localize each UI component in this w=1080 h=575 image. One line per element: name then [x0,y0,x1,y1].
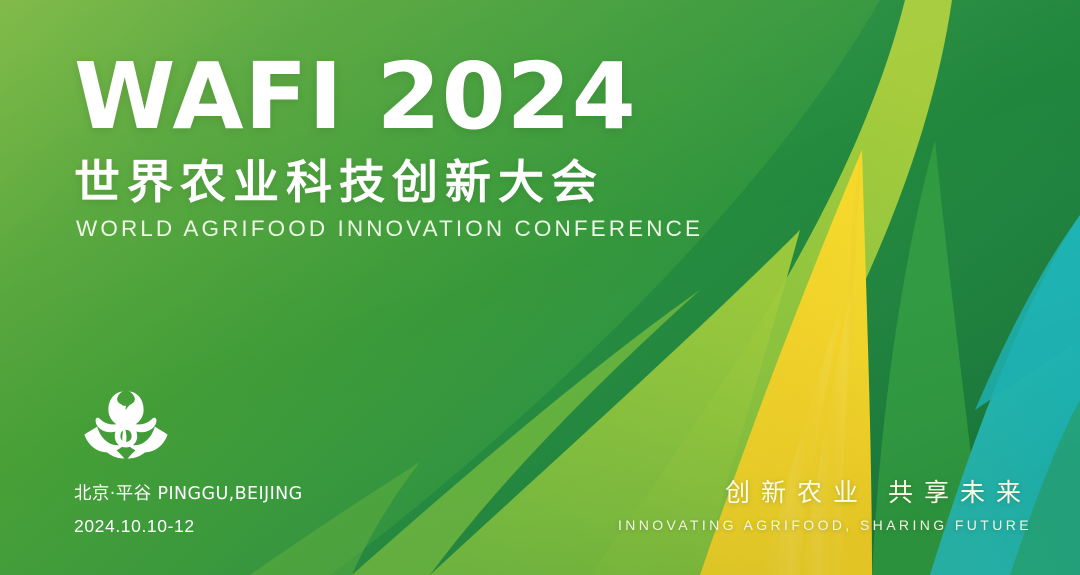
page-title: WAFI 2024 [74,52,734,142]
venue-block: 北京·平谷 PINGGU,BEIJING 2024.10.10-12 [74,388,303,537]
event-dates: 2024.10.10-12 [74,516,303,537]
venue-location: 北京·平谷 PINGGU,BEIJING [74,480,303,505]
wafi-emblem-icon [78,388,174,462]
conference-key-visual-poster: WAFI 2024 世界农业科技创新大会 WORLD AGRIFOOD INNO… [0,0,1080,575]
slogan-chinese: 创新农业 共享未来 [618,473,1034,509]
slogan-block: 创新农业 共享未来 INNOVATING AGRIFOOD, SHARING F… [618,473,1034,533]
poster-content: WAFI 2024 世界农业科技创新大会 WORLD AGRIFOOD INNO… [0,0,1080,575]
conference-title-english: WORLD AGRIFOOD INNOVATION CONFERENCE [76,216,734,242]
headline-block: WAFI 2024 世界农业科技创新大会 WORLD AGRIFOOD INNO… [74,52,734,242]
conference-title-chinese: 世界农业科技创新大会 [74,158,734,206]
slogan-english: INNOVATING AGRIFOOD, SHARING FUTURE [618,517,1034,533]
